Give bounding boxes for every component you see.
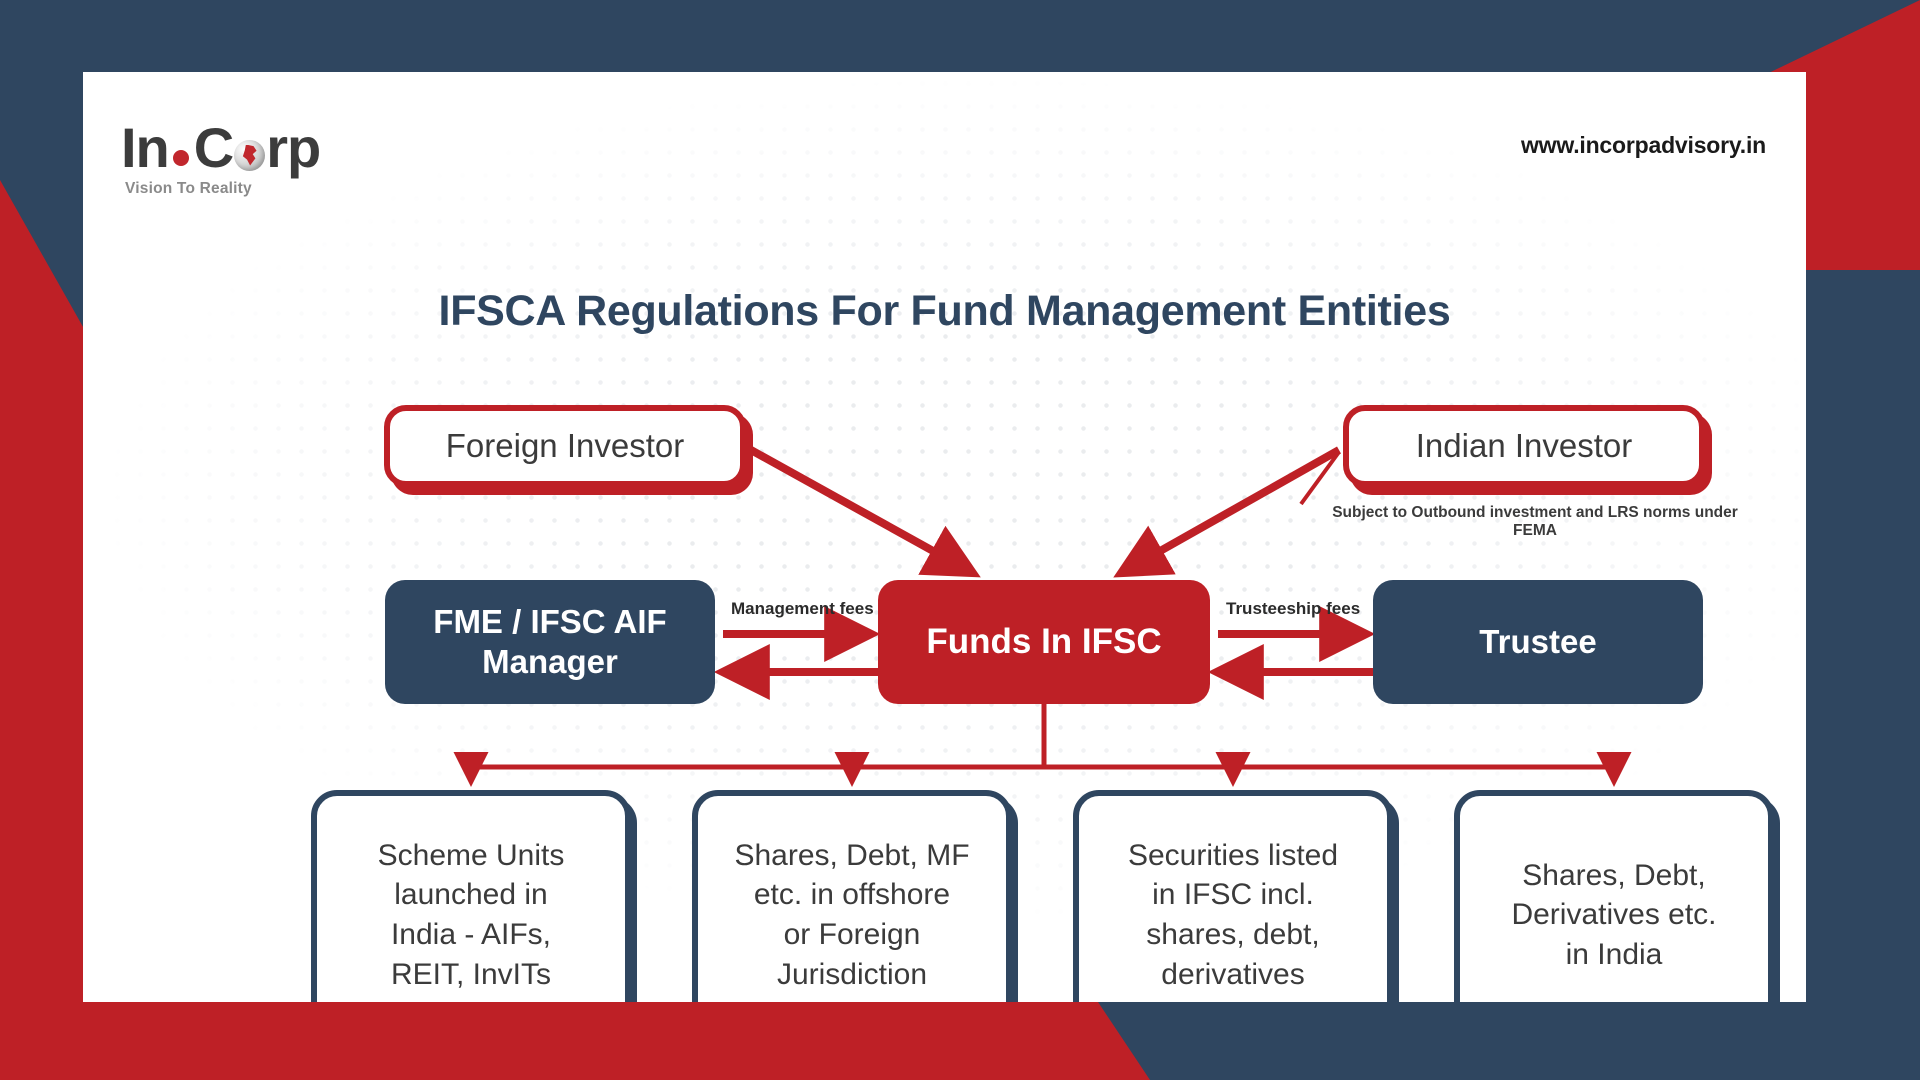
logo-text-rp: rp — [266, 120, 320, 176]
node-funds-in-ifsc[interactable]: Funds In IFSC — [878, 580, 1210, 704]
page-title: IFSCA Regulations For Fund Management En… — [83, 287, 1806, 336]
node-indian-investor[interactable]: Indian Investor — [1343, 405, 1705, 487]
node-investment-option-2[interactable]: Securities listedin IFSC incl.shares, de… — [1073, 790, 1393, 1002]
logo-text-c: C — [194, 120, 233, 176]
node-fme-ifsc-aif-manager[interactable]: FME / IFSC AIF Manager — [385, 580, 715, 704]
content-card: In C rp Vision To Reality www.incorpadvi… — [83, 72, 1806, 1002]
node-indian-investor-label: Indian Investor — [1416, 427, 1632, 465]
logo-red-dot-icon — [173, 150, 189, 166]
node-investment-option-3[interactable]: Shares, Debt,Derivatives etc.in India — [1454, 790, 1774, 1002]
edge-label-management-fees: Management fees — [731, 599, 874, 619]
globe-icon — [234, 140, 265, 171]
logo-tagline: Vision To Reality — [125, 180, 320, 198]
node-investment-option-1[interactable]: Shares, Debt, MFetc. in offshoreor Forei… — [692, 790, 1012, 1002]
arrow-foreign-investor-to-funds — [751, 450, 971, 572]
node-investment-option-0-text: Scheme Unitslaunched inIndia - AIFs,REIT… — [378, 836, 565, 994]
arrow-indian-investor-to-funds — [1123, 450, 1339, 572]
node-foreign-investor-label: Foreign Investor — [446, 427, 684, 465]
incorp-logo: In C rp Vision To Reality — [121, 120, 320, 198]
note-fema-compliance: Subject to Outbound investment and LRS n… — [1315, 504, 1755, 540]
node-trustee-label: Trustee — [1479, 622, 1596, 662]
logo-text-in: In — [121, 120, 169, 176]
node-investment-option-2-text: Securities listedin IFSC incl.shares, de… — [1128, 836, 1338, 994]
infographic-canvas: In C rp Vision To Reality www.incorpadvi… — [0, 0, 1920, 1080]
node-fme-label-line2: Manager — [433, 642, 666, 682]
node-investment-option-0[interactable]: Scheme Unitslaunched inIndia - AIFs,REIT… — [311, 790, 631, 1002]
node-fme-label-line1: FME / IFSC AIF — [433, 602, 666, 642]
logo-wordmark: In C rp — [121, 120, 320, 176]
edge-label-trusteeship-fees: Trusteeship fees — [1226, 599, 1360, 619]
node-investment-option-1-text: Shares, Debt, MFetc. in offshoreor Forei… — [734, 836, 969, 994]
node-investment-option-3-text: Shares, Debt,Derivatives etc.in India — [1511, 856, 1716, 975]
node-funds-in-ifsc-label: Funds In IFSC — [926, 622, 1161, 662]
leader-line-fema-note — [1301, 452, 1339, 504]
website-url[interactable]: www.incorpadvisory.in — [1521, 132, 1766, 159]
node-foreign-investor[interactable]: Foreign Investor — [384, 405, 746, 487]
node-trustee[interactable]: Trustee — [1373, 580, 1703, 704]
